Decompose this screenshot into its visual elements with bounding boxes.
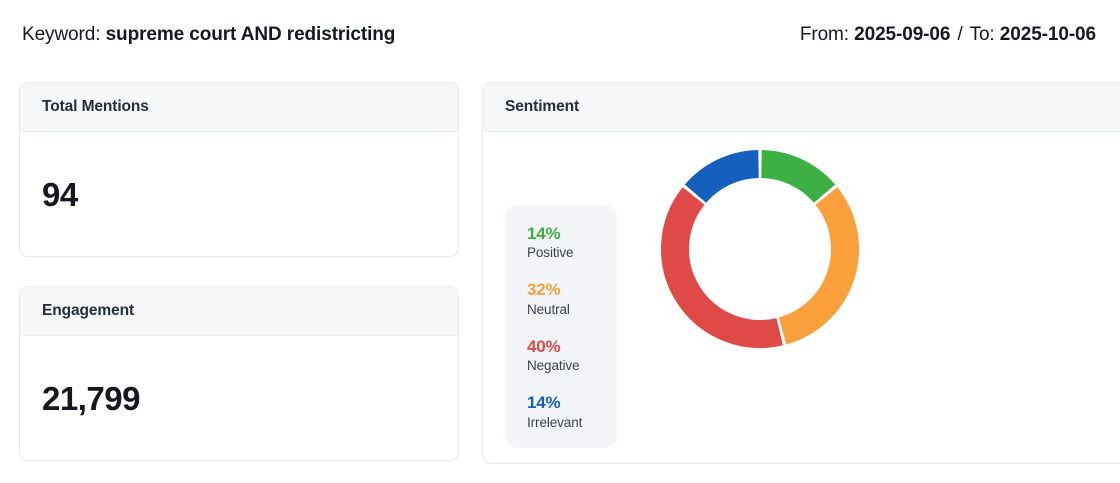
donut-slice-neutral — [783, 196, 845, 331]
engagement-title: Engagement — [42, 302, 134, 320]
legend-percent-neutral: 32% — [527, 279, 617, 300]
engagement-value: 21,799 — [42, 382, 140, 415]
total-mentions-value: 94 — [42, 178, 78, 211]
legend-percent-positive: 14% — [527, 223, 617, 244]
sentiment-legend: 14% Positive 32% Neutral 40% Negative 14… — [505, 205, 617, 448]
keyword-label: Keyword: — [22, 24, 100, 45]
legend-label-negative: Negative — [527, 357, 617, 375]
engagement-card-body: 21,799 — [20, 336, 458, 460]
legend-item-positive: 14% Positive — [505, 223, 617, 262]
legend-item-negative: 40% Negative — [505, 336, 617, 375]
to-label: To: — [970, 24, 995, 45]
legend-percent-negative: 40% — [527, 336, 617, 357]
legend-label-positive: Positive — [527, 244, 617, 262]
to-date-value: 2025-10-06 — [1000, 24, 1096, 45]
total-mentions-card: Total Mentions 94 — [19, 82, 459, 257]
date-range-separator: / — [956, 24, 965, 45]
sentiment-card-header: Sentiment — [483, 83, 1120, 132]
legend-item-neutral: 32% Neutral — [505, 279, 617, 318]
keyword-summary: Keyword: supreme court AND redistricting — [22, 24, 395, 46]
donut-slice-positive — [761, 164, 824, 194]
date-range-summary: From: 2025-09-06 / To: 2025-10-06 — [800, 24, 1098, 46]
legend-item-irrelevant: 14% Irrelevant — [505, 392, 617, 431]
sentiment-card-body: 14% Positive 32% Neutral 40% Negative 14… — [483, 132, 1120, 463]
from-label: From: — [800, 24, 849, 45]
legend-label-irrelevant: Irrelevant — [527, 414, 617, 432]
dashboard-header: Keyword: supreme court AND redistricting… — [0, 0, 1120, 70]
keyword-value: supreme court AND redistricting — [106, 24, 396, 45]
total-mentions-card-body: 94 — [20, 132, 458, 256]
engagement-card-header: Engagement — [20, 287, 458, 336]
sentiment-donut-chart — [660, 149, 860, 349]
donut-slice-negative — [675, 196, 780, 334]
sentiment-card: Sentiment 14% Positive 32% Neutral 40% N… — [482, 82, 1120, 464]
donut-slice-irrelevant — [695, 164, 758, 194]
legend-label-neutral: Neutral — [527, 301, 617, 319]
from-date-value: 2025-09-06 — [854, 24, 950, 45]
legend-percent-irrelevant: 14% — [527, 392, 617, 413]
total-mentions-card-header: Total Mentions — [20, 83, 458, 132]
total-mentions-title: Total Mentions — [42, 98, 149, 116]
sentiment-title: Sentiment — [505, 98, 579, 116]
donut-svg — [660, 149, 860, 349]
engagement-card: Engagement 21,799 — [19, 286, 459, 461]
